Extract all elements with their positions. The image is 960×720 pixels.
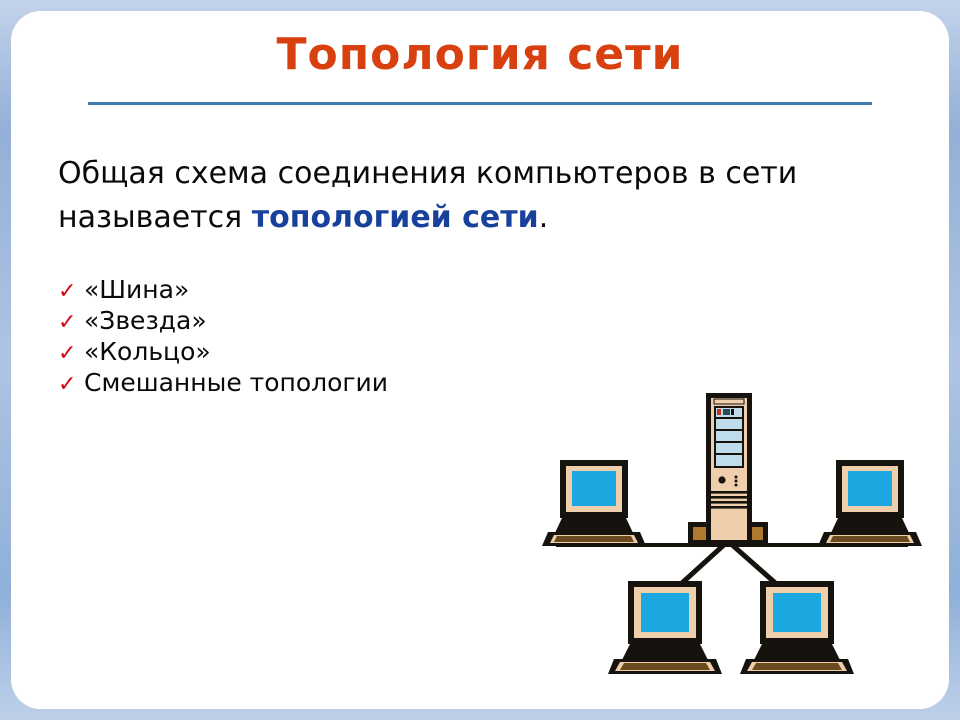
check-icon: ✓: [58, 281, 84, 303]
connection-lines: [556, 543, 908, 603]
check-icon: ✓: [58, 312, 84, 334]
check-icon: ✓: [58, 374, 84, 396]
network-topology-illustration: [540, 385, 940, 685]
list-item: ✓ «Кольцо»: [58, 336, 528, 367]
title-divider: [88, 102, 872, 105]
list-item-label: «Звезда»: [84, 305, 207, 336]
check-icon: ✓: [58, 343, 84, 365]
computer-left: [542, 460, 646, 546]
computer-bottom-left: [608, 581, 722, 674]
computer-right: [818, 460, 922, 546]
topology-list: ✓ «Шина» ✓ «Звезда» ✓ «Кольцо» ✓ Смешанн…: [58, 274, 528, 398]
list-item-label: «Шина»: [84, 274, 189, 305]
intro-paragraph: Общая схема соединения компьютеров в сет…: [58, 152, 898, 240]
list-item: ✓ Смешанные топологии: [58, 367, 528, 398]
paragraph-accent-term: топологией сети: [252, 200, 539, 235]
slide: Топология сети Общая схема соединения ко…: [0, 0, 960, 720]
list-item: ✓ «Звезда»: [58, 305, 528, 336]
list-item: ✓ «Шина»: [58, 274, 528, 305]
server-tower: [688, 393, 768, 545]
list-item-label: «Кольцо»: [84, 336, 211, 367]
page-title: Топология сети: [0, 28, 960, 82]
list-item-label: Смешанные топологии: [84, 367, 388, 398]
computer-bottom-right: [740, 581, 854, 674]
paragraph-text-after: .: [539, 200, 549, 235]
